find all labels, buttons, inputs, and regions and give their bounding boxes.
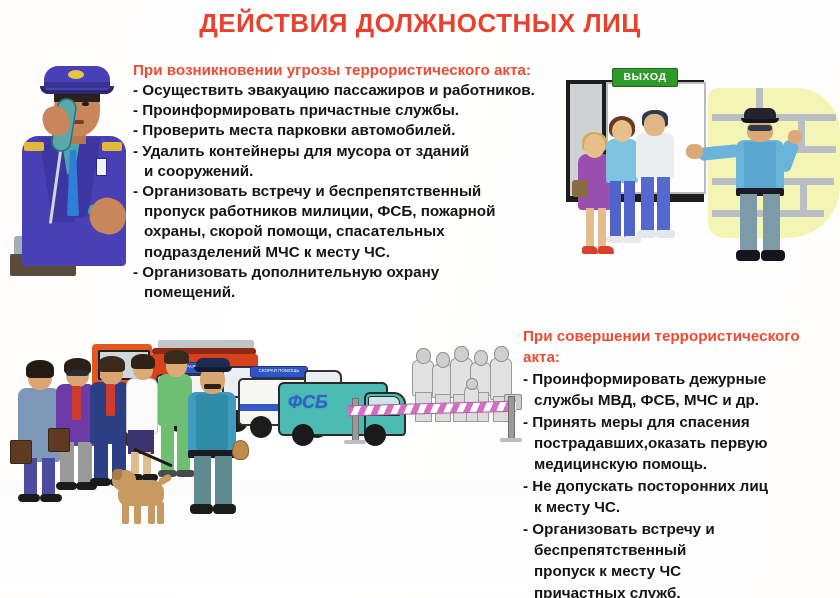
fsb-van-wheel-front [364,424,386,446]
evacuee-handbag [572,180,588,197]
shoe-left [18,494,40,502]
threat-line-8: охраны, скорой помощи, спасательных [133,222,563,242]
tie [72,386,81,420]
leg-left [161,424,174,474]
threat-line-11: помещений. [133,283,563,303]
brick-joint-4 [800,179,807,211]
threat-line-3: - Проверить места парковки автомобилей. [133,121,563,141]
evacuee-leg-right [624,181,635,239]
officer-cap-cockade [68,70,84,79]
leg-left [24,458,37,498]
text-block-act: При совершении террористического акта: -… [523,326,835,598]
guard-sunglasses-icon [748,125,772,131]
guard-hand-right [788,130,802,144]
fsb-van-wheel-rear [292,424,314,446]
evacuee-leg-left [641,177,654,233]
bystander-head [474,350,488,366]
barrier-post-right-base [500,438,522,442]
bystander-head [494,346,509,362]
evacuee-shoe-left [606,236,624,243]
bystander-head [416,348,431,364]
dog-leg-rear-right [157,502,164,524]
ambulance-2-lightbar: СКОРАЯ ПОМОЩЬ [250,366,308,378]
briefcase [10,440,32,464]
leg-left [94,440,108,482]
dog-leg-rear-left [148,502,155,524]
moustache [204,384,221,389]
barrier-post-left-base [344,440,366,444]
ambulance-2-wheel-rear [250,416,272,438]
paramedic-scrubs [158,374,192,426]
threat-line-10: - Организовать дополнительную охрану [133,263,563,283]
barrier-post-right [508,396,515,442]
page-title: ДЕЙСТВИЯ ДОЛЖНОСТНЫХ ЛИЦ [0,8,840,39]
hair [131,354,155,369]
child-head [466,378,478,390]
evacuee-head [644,114,665,136]
officer-badge [96,158,107,176]
bystander-head [454,346,469,362]
evacuee-head [584,134,605,158]
dog-leg-front-right [134,502,141,524]
dog-leg-front-left [122,502,129,524]
threat-line-4: - Удалить контейнеры для мусора от здани… [133,142,563,162]
shoe-right [176,470,195,477]
act-line-8: - Организовать встречу и [523,519,835,540]
leg-right [215,456,232,508]
act-line-4: пострадавших,оказать первую [523,433,835,454]
guard-head [747,120,773,142]
evacuee-head [612,120,632,142]
illustration-officer-on-phone [10,58,138,288]
poster-root: ДЕЙСТВИЯ ДОЛЖНОСТНЫХ ЛИЦ При возникновен… [0,0,840,598]
guard-leg-right [763,194,780,254]
guard-cap [744,108,776,119]
exit-sign: ВЫХОД [612,68,678,87]
evacuee-leg-left [610,181,621,239]
bystander-head [436,352,450,368]
nurse-coat [126,378,158,434]
shoe-left [90,478,111,486]
boot-left [190,504,213,514]
act-line-2: службы МВД, ФСБ, МЧС и др. [523,390,835,411]
threat-line-1: - Осуществить эвакуацию пассажиров и раб… [133,81,563,101]
act-line-5: медицинскую помощь. [523,454,835,475]
officer-epaulette-left [24,142,44,151]
hair [164,350,189,364]
threat-line-7: пропуск работников милиции, ФСБ, пожарно… [133,202,563,222]
act-heading-line-2: акта: [523,347,835,368]
threat-line-6: - Организовать встречу и беспрепятственн… [133,182,563,202]
evacuee-leg-right [657,177,670,233]
holster-pouch [232,440,249,460]
act-line-10: пропуск к месту ЧС [523,561,835,582]
guard-boot-left [736,250,760,261]
illustration-evacuation: ВЫХОД [560,74,840,304]
evacuee-leg-left [586,208,594,250]
boot-right [213,504,236,514]
evacuee-shoe-left [582,246,598,254]
bystander-body [412,360,434,396]
guard-leg-left [740,194,757,254]
hair [98,356,125,372]
act-heading-line-1: При совершении террористического [523,326,835,347]
threat-line-5: и сооружений. [133,162,563,182]
sunglasses-icon [66,370,89,376]
threat-line-2: - Проинформировать причастные службы. [133,101,563,121]
act-line-6: - Не допускать посторонних лиц [523,476,835,497]
act-line-1: - Проинформировать дежурные [523,369,835,390]
evacuee-leg-right [598,208,606,250]
tie [106,384,115,416]
act-line-11: причастных служб. [523,583,835,598]
act-line-7: к месту ЧС. [523,497,835,518]
police-cap-brim [194,367,232,372]
officer-epaulette-right [102,142,122,151]
shoe-left [56,482,77,490]
scene-ground [0,480,540,592]
text-block-threat: При возникновении угрозы террористическо… [133,60,563,303]
police-vest [196,394,228,450]
dog-ear [112,469,122,480]
evacuee-top [606,139,638,183]
evacuee-shoe-left [637,230,656,238]
shoe-right [40,494,62,502]
officer-eye-right [82,102,89,106]
guard-hand-left [686,144,703,159]
threat-heading: При возникновении угрозы террористическо… [133,60,563,81]
threat-line-9: подразделений МЧС к месту ЧС. [133,243,563,263]
hair [26,360,54,378]
evacuee-shirt [636,133,674,179]
act-line-9: беспрепятственный [523,540,835,561]
leg-left [194,456,211,508]
briefcase [48,428,70,452]
guard-vest [744,142,776,188]
evacuee-shoe-right [656,230,675,238]
fsb-van-marking: ФСБ [288,392,350,413]
leg-right [42,458,55,498]
act-line-3: - Принять меры для спасения [523,412,835,433]
evacuee-shoe-right [598,246,614,254]
guard-boot-right [761,250,785,261]
officer-cap-band [44,82,110,88]
